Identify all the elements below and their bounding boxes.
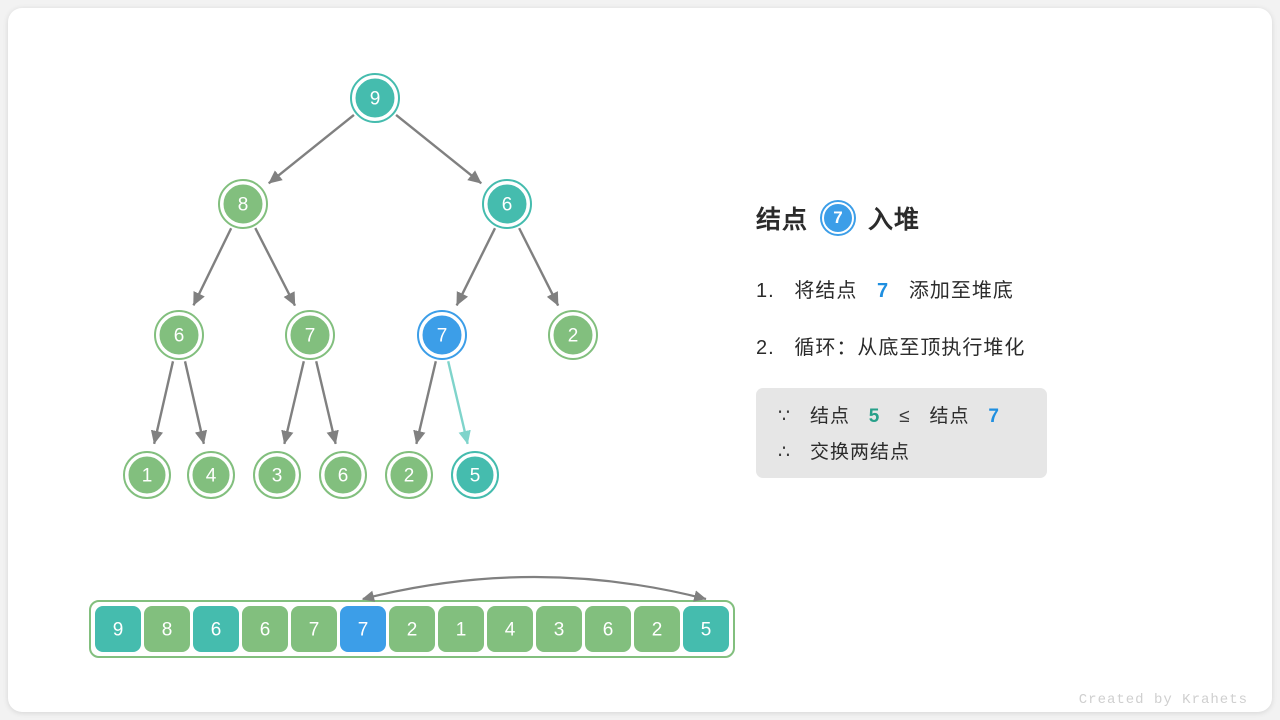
tree-node: 2 — [386, 452, 432, 498]
array-cell: 1 — [438, 606, 484, 652]
step-1: 1. 将结点 7 添加至堆底 — [756, 274, 1216, 303]
array-cell: 5 — [683, 606, 729, 652]
array-cell: 7 — [291, 606, 337, 652]
tree-node-value: 1 — [142, 466, 153, 487]
heading-value-badge: 7 — [822, 202, 854, 234]
tree-node: 6 — [483, 180, 531, 228]
array-cell-value: 2 — [407, 620, 418, 641]
array-cell: 6 — [193, 606, 239, 652]
tree-node: 5 — [452, 452, 498, 498]
tree-node-value: 8 — [238, 195, 249, 216]
step-1-value: 7 — [877, 280, 889, 302]
tree-edge — [193, 228, 231, 305]
tree-edge — [284, 361, 303, 444]
tree-edge — [255, 228, 295, 306]
array-cell: 9 — [95, 606, 141, 652]
tree-nodes: 9866772143625 — [124, 74, 597, 498]
hint-value-b: 7 — [988, 406, 1000, 427]
array-cell: 6 — [585, 606, 631, 652]
tree-node-value: 6 — [502, 195, 513, 216]
array-cell: 2 — [634, 606, 680, 652]
tree-edge — [416, 361, 435, 444]
array-cell-value: 5 — [701, 620, 712, 641]
tree-node: 8 — [219, 180, 267, 228]
tree-node: 6 — [155, 311, 203, 359]
array-cell-value: 6 — [211, 620, 222, 641]
array-cell-value: 7 — [358, 620, 369, 641]
array-cell: 4 — [487, 606, 533, 652]
tree-edge — [448, 361, 467, 444]
array-cell: 3 — [536, 606, 582, 652]
step-1-index: 1. — [756, 280, 775, 302]
hint-conclusion: 交换两结点 — [810, 442, 910, 463]
array-cell-value: 9 — [113, 620, 124, 641]
array-cell-value: 4 — [505, 620, 516, 641]
hint-line-1: ∵ 结点 5 ≤ 结点 7 — [778, 401, 1025, 428]
explanation-panel: 结点 7 入堆 1. 将结点 7 添加至堆底 2. 循环：从底至顶执行堆化 ∵ … — [756, 200, 1216, 478]
array-cell: 6 — [242, 606, 288, 652]
tree-edge — [316, 361, 335, 444]
tree-node-value: 6 — [174, 326, 185, 347]
tree-edges — [154, 115, 558, 444]
tree-node-value: 6 — [338, 466, 349, 487]
tree-edge — [269, 115, 354, 183]
array-cell-value: 6 — [260, 620, 271, 641]
hint-label-b: 结点 — [930, 406, 970, 427]
step-2-text: 循环：从底至顶执行堆化 — [794, 337, 1025, 359]
array-cell-value: 6 — [603, 620, 614, 641]
step-2-index: 2. — [756, 337, 775, 359]
hint-line-2: ∴ 交换两结点 — [778, 437, 1025, 464]
array-cell: 2 — [389, 606, 435, 652]
array-cell-value: 2 — [652, 620, 663, 641]
tree-edge — [396, 115, 481, 183]
step-1-after: 添加至堆底 — [909, 280, 1014, 302]
tree-node-value: 4 — [206, 466, 217, 487]
array-cell-value: 8 — [162, 620, 173, 641]
tree-node-value: 3 — [272, 466, 283, 487]
tree-edge — [185, 361, 204, 443]
array-cell-value: 3 — [554, 620, 565, 641]
tree-node: 2 — [549, 311, 597, 359]
panel-heading: 结点 7 入堆 — [756, 200, 1216, 236]
array-swap-arrow — [363, 577, 706, 599]
tree-edge — [519, 228, 558, 305]
because-symbol: ∵ — [778, 406, 791, 427]
tree-node: 3 — [254, 452, 300, 498]
tree-node: 6 — [320, 452, 366, 498]
array-cell: 7 — [340, 606, 386, 652]
step-2: 2. 循环：从底至顶执行堆化 — [756, 331, 1216, 360]
tree-node-value: 7 — [437, 326, 448, 347]
tree-node-value: 9 — [370, 89, 381, 110]
array-cell: 8 — [144, 606, 190, 652]
array-cell-value: 7 — [309, 620, 320, 641]
comparison-operator: ≤ — [899, 406, 910, 427]
tree-node: 9 — [351, 74, 399, 122]
tree-edge — [154, 361, 173, 443]
tree-node: 1 — [124, 452, 170, 498]
hint-box: ∵ 结点 5 ≤ 结点 7 ∴ 交换两结点 — [756, 388, 1047, 478]
array-cell-value: 1 — [456, 620, 467, 641]
step-1-before: 将结点 — [794, 280, 857, 302]
hint-value-a: 5 — [869, 406, 881, 427]
tree-node: 4 — [188, 452, 234, 498]
heading-suffix: 入堆 — [868, 200, 920, 236]
heading-prefix: 结点 — [756, 200, 808, 236]
tree-node: 7 — [286, 311, 334, 359]
tree-node-value: 7 — [305, 326, 316, 347]
array-group: 9866772143625 — [90, 577, 734, 657]
tree-node-value: 2 — [404, 466, 415, 487]
hint-label-a: 结点 — [810, 406, 850, 427]
tree-node-value: 2 — [568, 326, 579, 347]
tree-edge — [457, 228, 495, 305]
tree-node: 7 — [418, 311, 466, 359]
therefore-symbol: ∴ — [778, 442, 791, 463]
credit-text: Created by Krahets — [1079, 692, 1248, 708]
tree-node-value: 5 — [470, 466, 481, 487]
screenshot-root: 9866772143625 9866772143625 结点 7 入堆 1. 将… — [0, 0, 1280, 720]
